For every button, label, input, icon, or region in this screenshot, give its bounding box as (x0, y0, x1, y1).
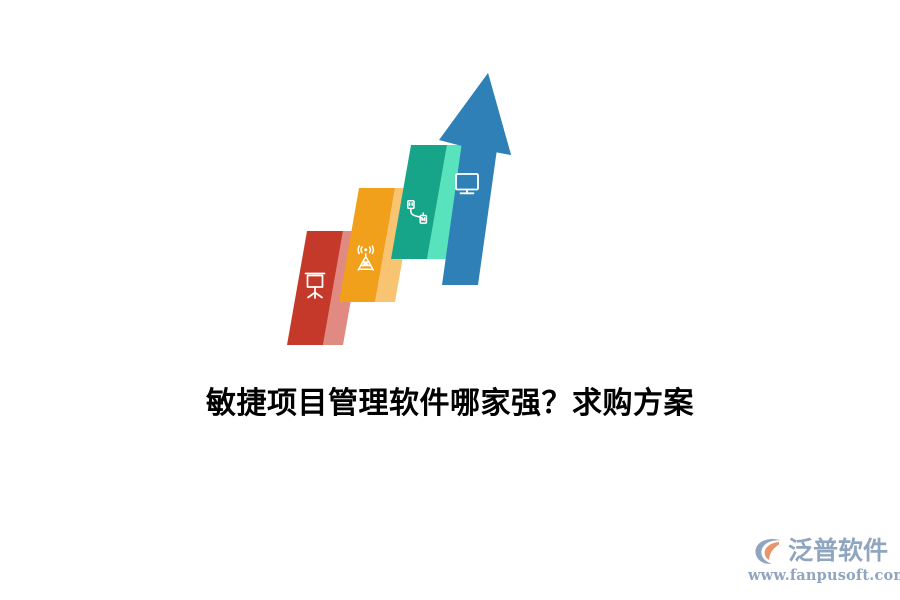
watermark-brand-text: 泛普软件 (788, 537, 888, 565)
fanpu-logo-icon (754, 537, 784, 565)
watermark-url-text: www.fanpusoft.com (748, 567, 888, 585)
watermark-logo-row: 泛普软件 (748, 534, 888, 568)
page-title: 敏捷项目管理软件哪家强？求购方案 (0, 382, 900, 426)
page-canvas: 敏捷项目管理软件哪家强？求购方案 泛普软件 www.fanpusoft.com (0, 0, 900, 600)
watermark: 泛普软件 www.fanpusoft.com (748, 534, 888, 592)
rising-arrow-graphic (285, 70, 535, 355)
